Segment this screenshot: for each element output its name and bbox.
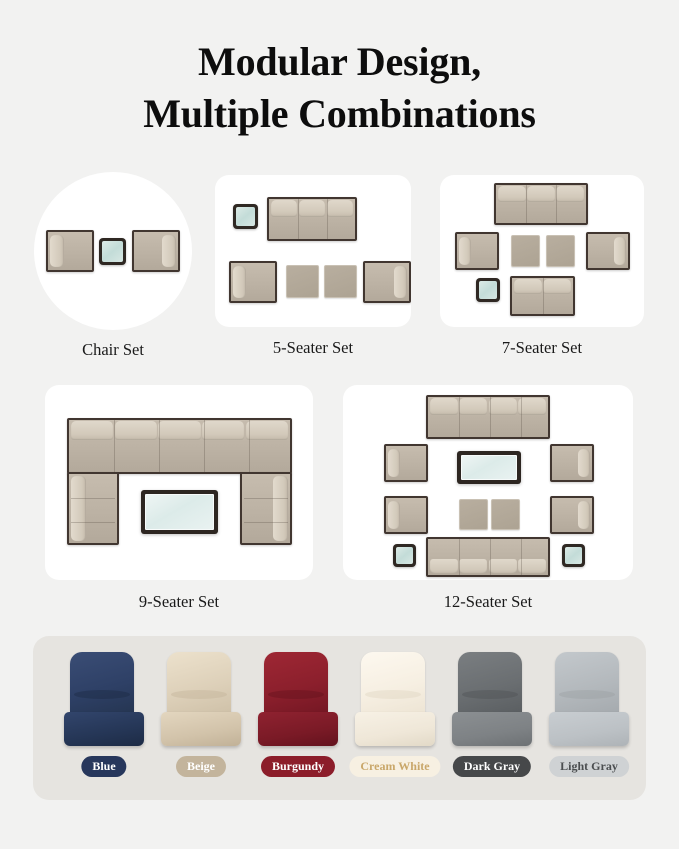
seat-divider xyxy=(459,539,460,575)
seat-divider xyxy=(521,539,522,575)
seat-divider xyxy=(327,199,328,239)
sofa-two-seat xyxy=(510,276,575,316)
caption-7-seater-set: 7-Seater Set xyxy=(440,338,644,358)
seat-cushion xyxy=(64,712,144,746)
color-options-panel: Blue Beige Burgundy Cream xyxy=(33,636,646,800)
chair-back-cushion xyxy=(614,237,626,265)
cushion xyxy=(527,186,555,202)
ottoman xyxy=(459,499,488,530)
cushion xyxy=(271,200,297,217)
cushion xyxy=(430,398,458,415)
seat-cushion xyxy=(161,712,241,746)
back-cushion xyxy=(70,652,134,718)
cushion xyxy=(430,559,458,574)
seat-divider xyxy=(556,185,557,223)
cushion xyxy=(518,559,546,574)
color-swatch-light-gray[interactable]: Light Gray xyxy=(541,650,637,790)
cushion-crease xyxy=(365,690,421,699)
seat-cushion xyxy=(258,712,338,746)
chair-back-cushion xyxy=(388,449,400,477)
back-cushion xyxy=(167,652,231,718)
seat-divider xyxy=(71,498,115,499)
chair-back-cushion xyxy=(388,501,400,529)
config-card-7-seater-set[interactable]: 7-Seater Set xyxy=(440,175,644,327)
ottoman xyxy=(286,265,319,298)
side-table xyxy=(476,278,500,302)
seat-divider xyxy=(298,199,299,239)
chair-right-lower xyxy=(550,496,594,534)
7-seater-illustration xyxy=(440,175,644,327)
side-table-left xyxy=(393,544,416,567)
cushion-illustration xyxy=(353,652,437,750)
color-label-beige[interactable]: Beige xyxy=(176,756,226,777)
glass-top xyxy=(236,207,255,226)
back-cushion xyxy=(555,652,619,718)
glass-top xyxy=(461,455,517,480)
sofa-four-seat-bottom xyxy=(426,537,550,577)
cushion-crease xyxy=(171,690,227,699)
seat-divider xyxy=(114,420,115,472)
config-card-12-seater-set[interactable]: 12-Seater Set xyxy=(343,385,633,580)
glass-top xyxy=(479,281,497,299)
color-swatch-dark-gray[interactable]: Dark Gray xyxy=(444,650,540,790)
chair-back-cushion xyxy=(578,501,590,529)
cushion-illustration xyxy=(450,652,534,750)
cushion xyxy=(459,398,487,415)
cushion xyxy=(71,476,86,541)
chair-left xyxy=(46,230,94,272)
cushion xyxy=(158,421,200,440)
chair-back-cushion xyxy=(578,449,590,477)
cushion-illustration xyxy=(62,652,146,750)
cushion xyxy=(459,559,487,574)
back-cushion xyxy=(264,652,328,718)
5-seater-illustration xyxy=(215,175,411,327)
color-label-light-gray[interactable]: Light Gray xyxy=(549,756,629,777)
cushion xyxy=(514,279,542,294)
caption-12-seater-set: 12-Seater Set xyxy=(343,592,633,612)
coffee-table xyxy=(141,490,218,534)
seat-cushion xyxy=(355,712,435,746)
cushion xyxy=(518,398,546,415)
chair-back-cushion xyxy=(50,235,64,267)
cushion xyxy=(273,476,288,541)
caption-5-seater-set: 5-Seater Set xyxy=(215,338,411,358)
cushion-illustration xyxy=(256,652,340,750)
chair-back-cushion xyxy=(459,237,471,265)
ottoman xyxy=(491,499,520,530)
infographic-page: Modular Design, Multiple Combinations Ch xyxy=(0,0,679,849)
color-label-dark-gray[interactable]: Dark Gray xyxy=(453,756,531,777)
glass-top xyxy=(396,547,413,564)
ottoman xyxy=(324,265,357,298)
color-label-burgundy[interactable]: Burgundy xyxy=(261,756,335,777)
seat-divider xyxy=(244,522,288,523)
chair-back-cushion xyxy=(233,266,246,298)
cushion xyxy=(489,559,517,574)
config-card-chair-set[interactable]: Chair Set xyxy=(34,172,192,330)
sofa-three-seat xyxy=(267,197,357,241)
chair-back-cushion xyxy=(394,266,407,298)
sofa-back-cushions xyxy=(430,398,546,415)
seat-divider xyxy=(71,522,115,523)
sectional-right-run xyxy=(240,472,292,545)
config-card-5-seater-set[interactable]: 5-Seater Set xyxy=(215,175,411,327)
seat-divider xyxy=(543,278,544,314)
chair-left-lower xyxy=(384,496,428,534)
seat-divider xyxy=(244,498,288,499)
sofa-three-seat xyxy=(494,183,588,225)
sectional-top-run xyxy=(67,418,292,474)
cushion xyxy=(543,279,571,294)
seat-divider xyxy=(490,397,491,437)
side-table-right xyxy=(562,544,585,567)
cushion-crease xyxy=(74,690,130,699)
glass-top xyxy=(102,241,123,262)
cushion-crease xyxy=(268,690,324,699)
seat-divider xyxy=(490,539,491,575)
back-cushion xyxy=(458,652,522,718)
9-seater-illustration xyxy=(45,385,313,580)
cushion xyxy=(489,398,517,415)
cushion xyxy=(71,421,113,440)
chair-right xyxy=(363,261,411,303)
seat-divider xyxy=(526,185,527,223)
seat-divider xyxy=(204,420,205,472)
chair-left xyxy=(229,261,277,303)
12-seater-illustration xyxy=(343,385,633,580)
page-title: Modular Design, Multiple Combinations xyxy=(0,36,679,140)
color-swatch-burgundy[interactable]: Burgundy xyxy=(250,650,346,790)
side-table xyxy=(233,204,258,229)
title-line-1: Modular Design, xyxy=(0,36,679,88)
cushion xyxy=(246,421,288,440)
sofa-back-cushions xyxy=(498,186,584,202)
chair-left-upper xyxy=(384,444,428,482)
chair-right xyxy=(132,230,180,272)
side-table xyxy=(99,238,126,265)
cushion-illustration xyxy=(547,652,631,750)
cushion-crease xyxy=(462,690,518,699)
cushion xyxy=(202,421,244,440)
cushion xyxy=(299,200,325,217)
sofa-back-cushions xyxy=(271,200,353,217)
caption-chair-set: Chair Set xyxy=(34,340,192,360)
ottoman xyxy=(511,235,540,267)
color-label-cream-white[interactable]: Cream White xyxy=(349,756,440,777)
sofa-four-seat-top xyxy=(426,395,550,439)
back-cushion xyxy=(361,652,425,718)
color-swatch-blue[interactable]: Blue xyxy=(56,650,152,790)
chair-back-cushion xyxy=(162,235,176,267)
cushion xyxy=(327,200,353,217)
seat-divider xyxy=(159,420,160,472)
sofa-back-cushions xyxy=(71,421,288,440)
caption-9-seater-set: 9-Seater Set xyxy=(45,592,313,612)
ottoman xyxy=(546,235,575,267)
color-swatch-beige[interactable]: Beige xyxy=(153,650,249,790)
cushion-crease xyxy=(559,690,615,699)
chair-set-illustration xyxy=(34,172,192,330)
coffee-table xyxy=(457,451,521,484)
config-card-9-seater-set[interactable]: 9-Seater Set xyxy=(45,385,313,580)
seat-cushion xyxy=(549,712,629,746)
seat-cushion xyxy=(452,712,532,746)
sectional-left-run xyxy=(67,472,119,545)
cushion xyxy=(115,421,157,440)
cushion-illustration xyxy=(159,652,243,750)
chair-left xyxy=(455,232,499,270)
seat-divider xyxy=(249,420,250,472)
color-label-blue[interactable]: Blue xyxy=(81,756,126,777)
color-swatch-cream-white[interactable]: Cream White xyxy=(347,650,443,790)
seat-divider xyxy=(459,397,460,437)
seat-divider xyxy=(521,397,522,437)
sofa-back-cushions xyxy=(430,559,546,574)
title-line-2: Multiple Combinations xyxy=(0,88,679,140)
cushion xyxy=(498,186,526,202)
glass-top xyxy=(565,547,582,564)
chair-right xyxy=(586,232,630,270)
glass-top xyxy=(145,494,214,530)
cushion xyxy=(556,186,584,202)
chair-right-upper xyxy=(550,444,594,482)
